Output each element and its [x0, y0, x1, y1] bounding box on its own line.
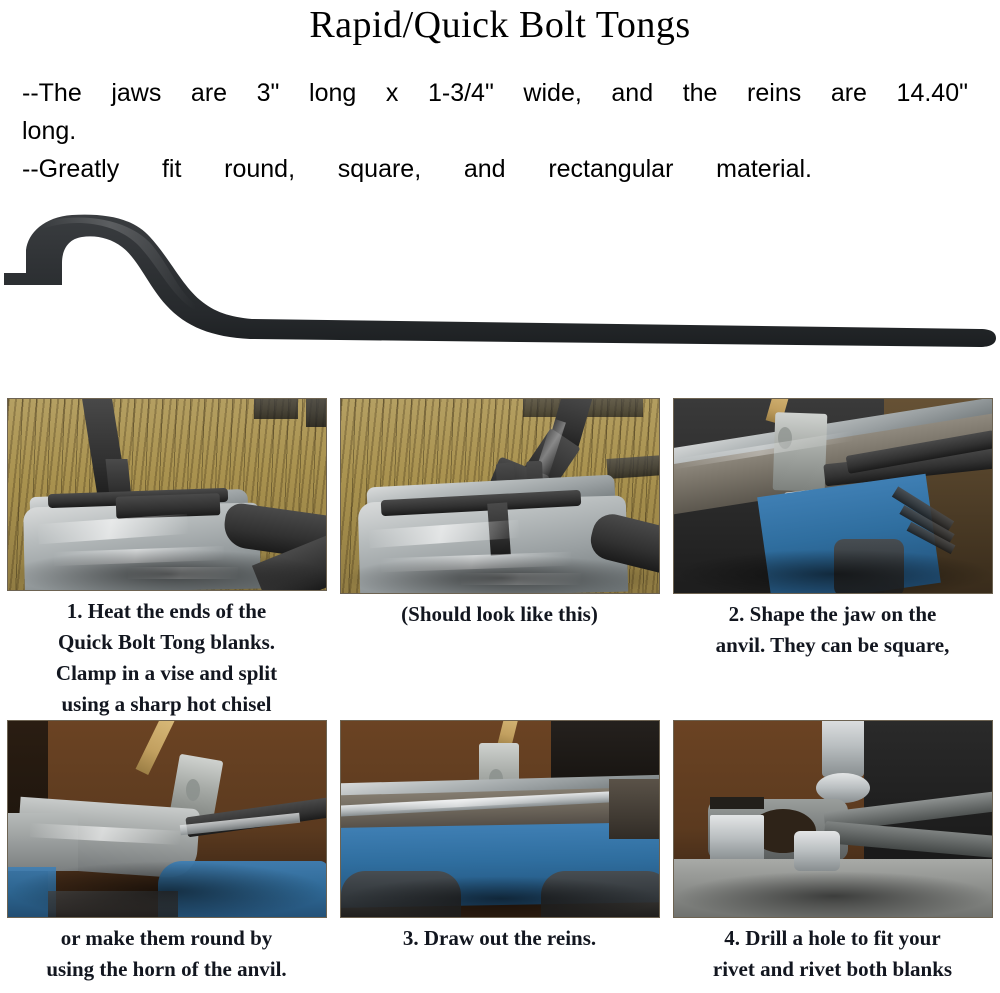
instruction-grid: 1. Heat the ends of the Quick Bolt Tong … [0, 394, 1000, 993]
caption-line: 4. Drill a hole to fit your [678, 923, 988, 954]
photo-split-result [340, 398, 660, 594]
caption-line: anvil. They can be square, [678, 630, 988, 661]
caption-line: or make them round by [12, 923, 322, 954]
photo-heat-ends-chisel [7, 398, 327, 591]
instruction-row-1: 1. Heat the ends of the Quick Bolt Tong … [0, 394, 1000, 720]
caption-step-5: 3. Draw out the reins. [345, 923, 655, 954]
caption-line: Quick Bolt Tong blanks. [12, 627, 322, 658]
instruction-row-2: or make them round by using the horn of … [0, 720, 1000, 993]
description-line-1a: --The jaws are 3" long x 1-3/4" wide, an… [22, 74, 968, 112]
instruction-step-3: 2. Shape the jaw on the anvil. They can … [666, 394, 999, 720]
product-hero-image [0, 205, 1000, 380]
caption-step-4: or make them round by using the horn of … [12, 923, 322, 985]
photo-drill-rivet-hole [673, 720, 993, 918]
caption-line: rivet and rivet both blanks [678, 954, 988, 985]
instruction-step-4: or make them round by using the horn of … [0, 720, 333, 993]
photo-round-on-horn [7, 720, 327, 918]
caption-step-2: (Should look like this) [345, 599, 655, 630]
description-line-2: --Greatly fit round, square, and rectang… [22, 150, 812, 188]
caption-step-6: 4. Drill a hole to fit your rivet and ri… [678, 923, 988, 985]
page-title: Rapid/Quick Bolt Tongs [0, 2, 1000, 48]
caption-line: Clamp in a vise and split [12, 658, 322, 689]
instruction-step-1: 1. Heat the ends of the Quick Bolt Tong … [0, 394, 333, 720]
caption-line: 3. Draw out the reins. [345, 923, 655, 954]
description-line-1b: long. [22, 112, 968, 150]
quick-bolt-tong-blank-icon [0, 205, 1000, 380]
photo-draw-out-reins [340, 720, 660, 918]
caption-line: using a sharp hot chisel [12, 689, 322, 720]
instruction-step-6: 4. Drill a hole to fit your rivet and ri… [666, 720, 999, 993]
photo-shape-jaw-anvil [673, 398, 993, 594]
instruction-step-5: 3. Draw out the reins. [333, 720, 666, 993]
caption-line: 2. Shape the jaw on the [678, 599, 988, 630]
product-description: --The jaws are 3" long x 1-3/4" wide, an… [22, 74, 968, 188]
caption-line: (Should look like this) [345, 599, 655, 630]
instruction-step-2: (Should look like this) [333, 394, 666, 720]
caption-step-3: 2. Shape the jaw on the anvil. They can … [678, 599, 988, 661]
caption-line: 1. Heat the ends of the [12, 596, 322, 627]
caption-step-1: 1. Heat the ends of the Quick Bolt Tong … [12, 596, 322, 720]
caption-line: using the horn of the anvil. [12, 954, 322, 985]
